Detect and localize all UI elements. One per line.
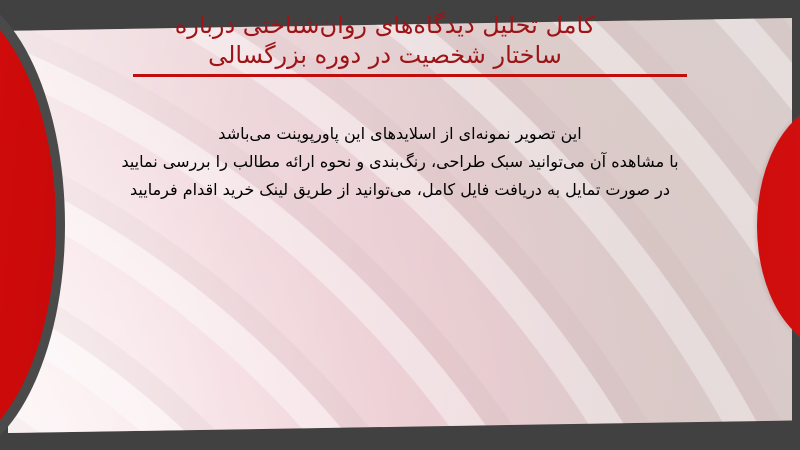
- slide-title-line-1: کامل تحلیل دیدگاه‌های روان‌شناختی درباره: [80, 10, 690, 40]
- slide-body-line-3: در صورت تمایل به دریافت فایل کامل، می‌تو…: [40, 176, 760, 204]
- slide-body-line-1: این تصویر نمونه‌ای از اسلایدهای این پاور…: [40, 120, 760, 148]
- slide: کامل تحلیل دیدگاه‌های روان‌شناختی درباره…: [0, 0, 800, 450]
- title-underline-rule: [133, 74, 687, 77]
- slide-title: کامل تحلیل دیدگاه‌های روان‌شناختی درباره…: [80, 10, 690, 70]
- slide-title-line-2: ساختار شخصیت در دوره بزرگسالی: [80, 40, 690, 70]
- slide-canvas-background: [8, 18, 792, 433]
- slide-body-line-2: با مشاهده آن می‌توانید سبک طراحی، رنگ‌بن…: [40, 148, 760, 176]
- slide-body-text: این تصویر نمونه‌ای از اسلایدهای این پاور…: [40, 120, 760, 204]
